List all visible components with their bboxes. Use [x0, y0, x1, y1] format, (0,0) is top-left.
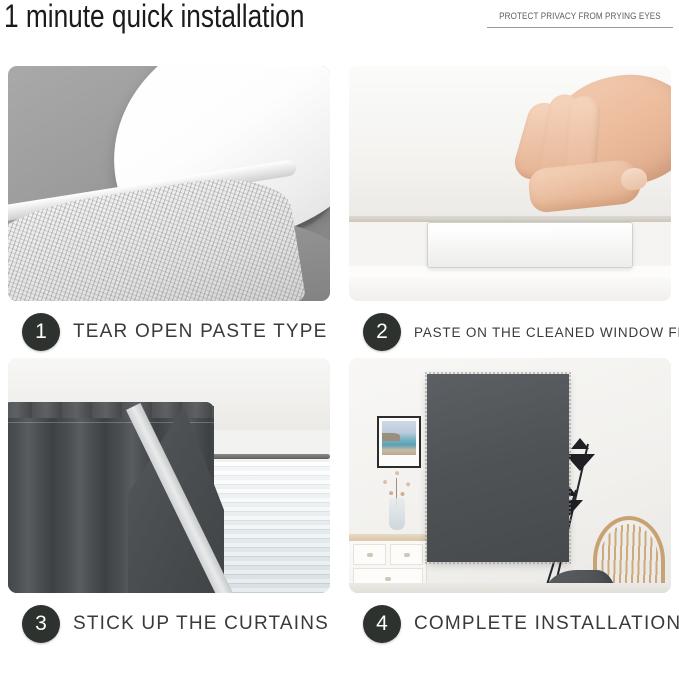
step-4-caption: COMPLETE INSTALLATION — [414, 613, 679, 635]
page-header: 1 minute quick installation PROTECT PRIV… — [0, 0, 679, 58]
step-2-caption: PASTE ON THE CLEANED WINDOW FRAME — [414, 325, 679, 340]
tagline-divider — [487, 27, 673, 28]
step-1-caption: TEAR OPEN PASTE TYPE — [73, 321, 328, 343]
step-card-4: 4 COMPLETE INSTALLATION — [349, 358, 671, 650]
step-1-caption-row: 1 TEAR OPEN PASTE TYPE — [8, 310, 330, 354]
blind-edge-trim — [425, 372, 571, 564]
dresser-top — [349, 534, 427, 541]
step-badge-3: 3 — [22, 605, 60, 643]
step-2-photo — [349, 66, 671, 301]
step-3-caption: STICK UP THE CURTAINS — [73, 613, 329, 635]
step-card-1: 1 TEAR OPEN PASTE TYPE — [8, 66, 330, 358]
step-4-photo — [349, 358, 671, 593]
step-card-3: 3 STICK UP THE CURTAINS — [8, 358, 330, 650]
dresser-drawer — [353, 544, 386, 565]
step-3-photo — [8, 358, 330, 593]
window-sill — [349, 277, 671, 301]
drawer-knob — [367, 553, 373, 557]
step-badge-2: 2 — [363, 313, 401, 351]
step-card-2: 2 PASTE ON THE CLEANED WINDOW FRAME — [349, 66, 671, 358]
floor — [349, 583, 671, 593]
drawer-knob — [404, 553, 410, 557]
coastal-artwork — [382, 421, 416, 455]
artwork-landmass — [382, 433, 400, 441]
step-1-photo — [8, 66, 330, 301]
lamp-cone-tall — [571, 438, 589, 449]
installed-blackout-blind — [427, 374, 569, 562]
hand — [509, 72, 671, 237]
step-2-caption-row: 2 PASTE ON THE CLEANED WINDOW FRAME — [349, 310, 671, 354]
lamp-shade-tall — [565, 454, 595, 471]
step-3-caption-row: 3 STICK UP THE CURTAINS — [8, 602, 330, 646]
tagline-block: PROTECT PRIVACY FROM PRYING EYES — [487, 11, 673, 28]
framed-picture — [377, 416, 421, 468]
drawer-knob — [385, 577, 391, 581]
step-badge-4: 4 — [363, 605, 401, 643]
step-badge-1: 1 — [22, 313, 60, 351]
step-4-caption-row: 4 COMPLETE INSTALLATION — [349, 602, 671, 646]
steps-grid: 1 TEAR OPEN PASTE TYPE 2 — [0, 58, 679, 684]
dresser-drawer — [390, 544, 423, 565]
page-title: 1 minute quick installation — [4, 0, 304, 35]
glass-vase — [389, 498, 405, 530]
tagline-text: PROTECT PRIVACY FROM PRYING EYES — [496, 11, 663, 21]
